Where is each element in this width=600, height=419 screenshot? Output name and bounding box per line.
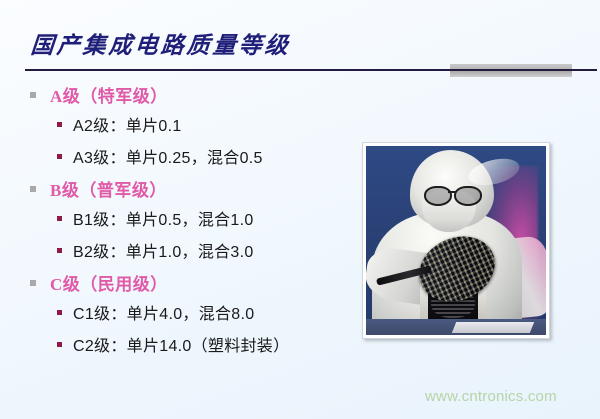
list-item-level1: C级（民用级） [0,270,360,300]
slide-photo [362,142,550,339]
watermark: www.cntronics.com [425,388,557,405]
group-heading: C级（民用级） [50,270,168,295]
slide-title-block: 国产集成电路质量等级 [0,0,600,80]
group-item: B2级：单片1.0，混合3.0 [73,238,254,262]
presentation-slide: 国产集成电路质量等级 A级（特军级） A2级：单片0.1 A3级：单片0.25，… [0,0,600,419]
square-bullet-icon [57,310,62,315]
list-item-level1: A级（特军级） [0,82,360,112]
list-item-level2: C1级：单片4.0，混合8.0 [0,300,360,332]
square-bullet-icon [30,92,36,98]
group-item: A2级：单片0.1 [73,112,182,136]
list-item-level2: A3级：单片0.25，混合0.5 [0,144,360,176]
cleanroom-wafer-photo [366,146,546,335]
group-item: A3级：单片0.25，混合0.5 [73,144,263,168]
square-bullet-icon [30,186,36,192]
square-bullet-icon [57,342,62,347]
photo-lens-left [424,186,452,206]
square-bullet-icon [57,122,62,127]
square-bullet-icon [57,248,62,253]
title-divider [25,69,597,71]
photo-glasses-bridge [448,191,456,193]
list-item-level2: A2级：单片0.1 [0,112,360,144]
photo-lens-right [454,186,482,206]
list-item-level2: B2级：单片1.0，混合3.0 [0,238,360,270]
group-heading: B级（普军级） [50,176,167,201]
group-item: B1级：单片0.5，混合1.0 [73,206,254,230]
photo-bench-sheet [452,322,534,333]
list-item-level2: C2级：单片14.0（塑料封装） [0,332,360,364]
group-item: C2级：单片14.0（塑料封装） [73,332,289,356]
square-bullet-icon [57,216,62,221]
group-item: C1级：单片4.0，混合8.0 [73,300,254,324]
list-item-level2: B1级：单片0.5，混合1.0 [0,206,360,238]
group-heading: A级（特军级） [50,82,168,107]
content-bullet-list: A级（特军级） A2级：单片0.1 A3级：单片0.25，混合0.5 B级（普军… [0,82,360,364]
square-bullet-icon [57,154,62,159]
list-item-level1: B级（普军级） [0,176,360,206]
page-title: 国产集成电路质量等级 [30,26,293,60]
square-bullet-icon [30,280,36,286]
photo-safety-glasses [424,186,482,203]
